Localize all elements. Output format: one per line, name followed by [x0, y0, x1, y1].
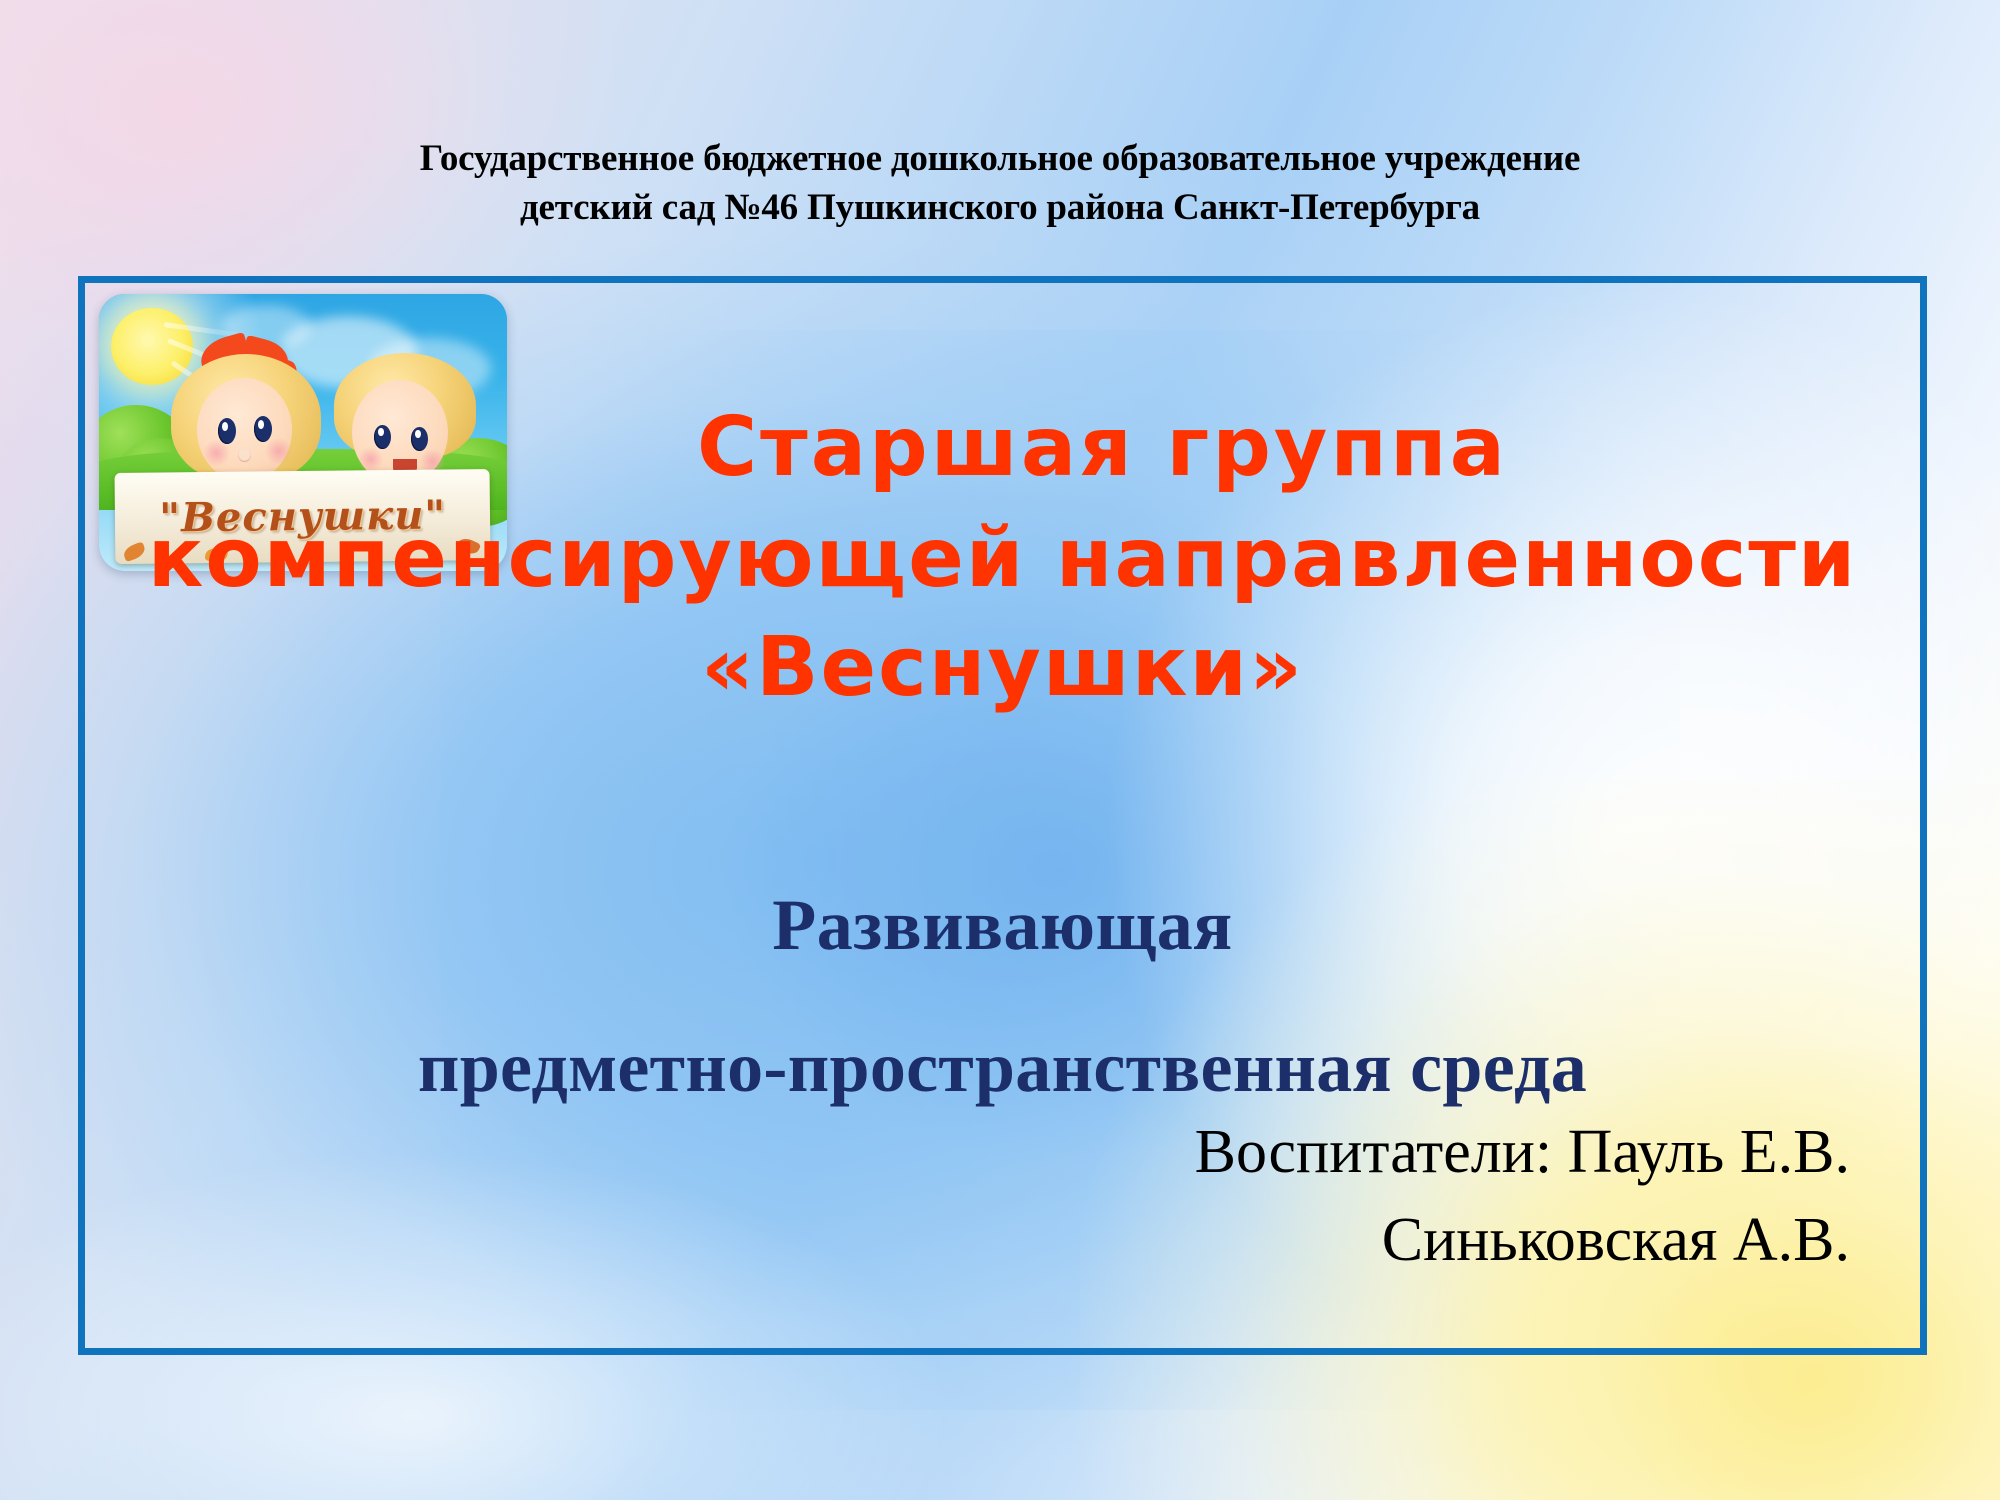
subtitle: Развивающая предметно-пространственная с…: [80, 880, 1925, 1112]
title-line-3: «Веснушки»: [80, 620, 1925, 717]
institution-line-2: детский сад №46 Пушкинского района Санкт…: [0, 184, 2000, 233]
main-title: Старшая группа компенсирующей направленн…: [80, 400, 1925, 716]
title-line-2: компенсирующей направленности: [80, 511, 1925, 608]
title-line-1: Старшая группа: [280, 400, 1925, 497]
author-line-2: Синьковская А.В.: [80, 1196, 1850, 1284]
subtitle-line-2: предметно-пространственная среда: [80, 1022, 1925, 1112]
author-line-1: Воспитатели: Пауль Е.В.: [80, 1108, 1850, 1196]
institution-line-1: Государственное бюджетное дошкольное обр…: [0, 135, 2000, 184]
subtitle-line-1: Развивающая: [80, 880, 1925, 970]
authors-block: Воспитатели: Пауль Е.В. Синьковская А.В.: [80, 1108, 1850, 1284]
institution-header: Государственное бюджетное дошкольное обр…: [0, 135, 2000, 233]
